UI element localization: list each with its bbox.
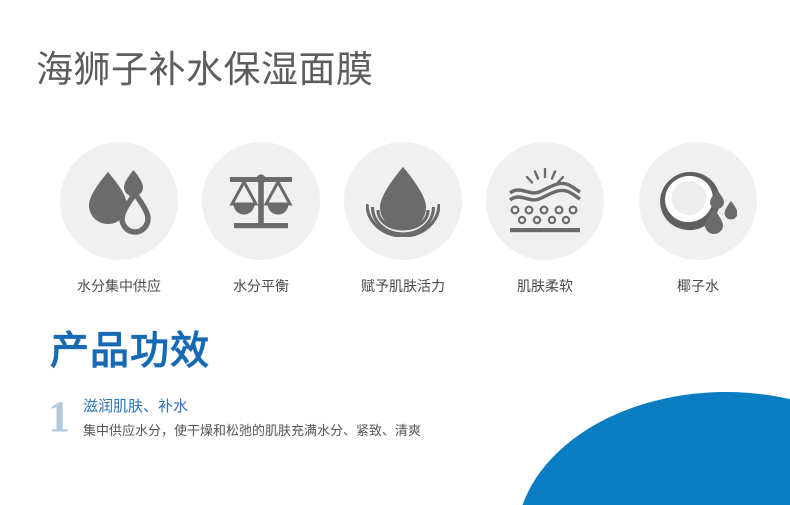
feature-item-water-supply: 水分集中供应 xyxy=(39,142,199,296)
product-detail-page: 海狮子补水保湿面膜 水分集中供应 xyxy=(0,0,790,505)
feature-label: 肌肤柔软 xyxy=(465,276,625,296)
feature-label: 赋予肌肤活力 xyxy=(323,276,483,296)
list-item: 1 滋润肌肤、补水 集中供应水分，使干燥和松弛的肌肤充满水分、紧致、清爽 xyxy=(48,396,468,466)
decorative-blue-blob xyxy=(516,392,790,505)
feature-item-skin-vitality: 赋予肌肤活力 xyxy=(323,142,483,296)
feature-icon-circle xyxy=(486,142,604,260)
page-title: 海狮子补水保湿面膜 xyxy=(36,46,374,94)
feature-item-coconut-water: 椰子水 xyxy=(618,142,778,296)
feature-item-soft-skin: 肌肤柔软 xyxy=(465,142,625,296)
feature-icon-circle xyxy=(60,142,178,260)
feature-icon-circle xyxy=(202,142,320,260)
list-item-title: 滋润肌肤、补水 xyxy=(83,396,468,418)
list-item-number: 1 xyxy=(48,392,70,442)
feature-label: 椰子水 xyxy=(618,276,778,296)
feature-label: 水分集中供应 xyxy=(39,276,199,296)
section-heading-product-efficacy: 产品功效 xyxy=(50,327,210,377)
efficacy-list: 1 滋润肌肤、补水 集中供应水分，使干燥和松弛的肌肤充满水分、紧致、清爽 xyxy=(48,396,468,466)
feature-icon-circle xyxy=(639,142,757,260)
feature-icon-row: 水分集中供应 水分平衡 xyxy=(0,142,790,307)
list-item-body: 集中供应水分，使干燥和松弛的肌肤充满水分、紧致、清爽 xyxy=(83,421,423,440)
feature-icon-circle xyxy=(344,142,462,260)
feature-label: 水分平衡 xyxy=(181,276,341,296)
feature-item-water-balance: 水分平衡 xyxy=(181,142,341,296)
